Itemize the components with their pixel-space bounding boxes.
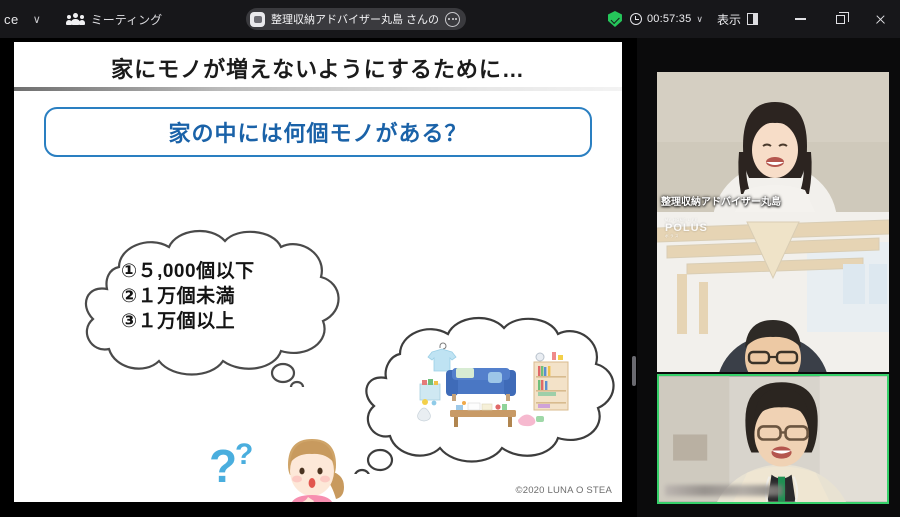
panel-resize-grip[interactable]	[632, 356, 636, 386]
shield-check-icon[interactable]	[608, 11, 622, 27]
slide-title: 家にモノが増えないようにするために…	[14, 52, 622, 84]
option-item: ②１万個未満	[121, 284, 255, 309]
copyright-text: ©2020 LUNA O STEA	[516, 485, 612, 496]
meeting-tab-label: ミーティング	[91, 11, 162, 28]
thought-bubble-options: ①５,000個以下 ②１万個未満 ③１万個以上	[69, 227, 369, 387]
restore-button[interactable]	[820, 0, 860, 38]
shared-screen-pill[interactable]: 整理収納アドバイザー丸島 さんの	[246, 8, 466, 30]
title-bar-right: 00:57:35 ∨ 表示	[608, 0, 900, 38]
chevron-down-icon[interactable]: ∨	[33, 13, 41, 26]
app-name-truncated: ce	[4, 12, 19, 27]
video-tile[interactable]: 整理収納アドバイザー丸島	[657, 72, 889, 212]
shared-screen-label: 整理収納アドバイザー丸島 さんの	[271, 11, 439, 27]
question-box: 家の中には何個モノがある？	[44, 107, 592, 157]
title-bar: ce ∨ ミーティング 整理収納アドバイザー丸島 さんの 00:57:35 ∨	[0, 0, 900, 38]
polus-watermark: MY HOME LIFE POLUS ポラス	[665, 218, 708, 239]
more-options-icon[interactable]	[445, 12, 460, 27]
shared-content-stage: 家にモノが増えないようにするために… 家の中には何個モノがある？ ①５,000個…	[0, 38, 637, 517]
layout-grid-icon	[747, 13, 758, 25]
presentation-slide: 家にモノが増えないようにするために… 家の中には何個モノがある？ ①５,000個…	[14, 42, 622, 502]
video-tile[interactable]: MY HOME LIFE POLUS ポラス	[657, 212, 889, 372]
close-button[interactable]	[860, 0, 900, 38]
meeting-timer-value: 00:57:35	[647, 13, 691, 25]
room-illustration	[412, 342, 592, 442]
meeting-timer[interactable]: 00:57:35 ∨	[630, 13, 703, 25]
options-list: ①５,000個以下 ②１万個未満 ③１万個以上	[121, 259, 255, 334]
minimize-button[interactable]	[780, 0, 820, 38]
zoom-meeting-window: ce ∨ ミーティング 整理収納アドバイザー丸島 さんの 00:57:35 ∨	[0, 0, 900, 517]
svg-text:?: ?	[209, 440, 237, 492]
question-box-text: 家の中には何個モノがある？	[168, 116, 467, 148]
video-tile-active-speaker[interactable]	[657, 374, 889, 504]
app-icon	[250, 12, 265, 27]
title-bar-left: ce ∨ ミーティング	[0, 0, 162, 38]
svg-text:?: ?	[235, 438, 253, 471]
clock-icon	[630, 13, 642, 25]
chevron-down-icon[interactable]: ∨	[696, 14, 703, 25]
participant-name-label-blurred	[665, 485, 783, 496]
person-illustration	[266, 427, 356, 502]
option-item: ③１万個以上	[121, 309, 255, 334]
video-participant-rail: 整理収納アドバイザー丸島	[639, 38, 900, 517]
polus-watermark-main: POLUS	[665, 222, 708, 234]
title-divider	[14, 87, 622, 91]
view-button[interactable]: 表示	[717, 11, 758, 28]
participant-name-label: 整理収納アドバイザー丸島	[661, 193, 781, 208]
option-item: ①５,000個以下	[121, 259, 255, 284]
people-icon	[67, 13, 84, 26]
polus-watermark-sub: ポラス	[665, 234, 708, 239]
meeting-tab[interactable]: ミーティング	[67, 11, 162, 28]
view-button-label: 表示	[717, 11, 741, 28]
